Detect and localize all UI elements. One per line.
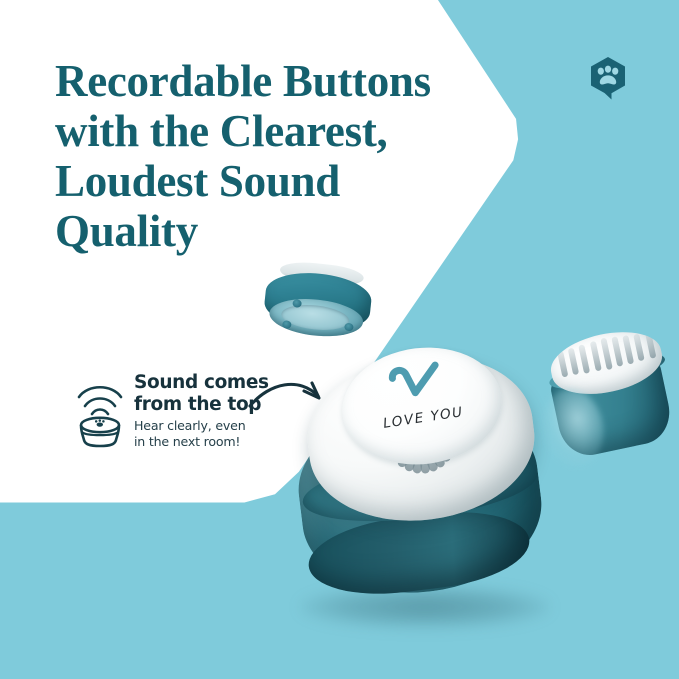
- grille-slot: [579, 344, 591, 373]
- product-scene: LOVE YOU: [0, 0, 679, 679]
- product-marketing-image: Recordable Buttons with the Clearest, Lo…: [0, 0, 679, 679]
- grille-slot: [634, 334, 646, 362]
- grille-slot: [568, 348, 580, 376]
- grille-slot: [645, 333, 656, 359]
- grille-slot: [589, 341, 601, 372]
- recordable-button-tilted: [531, 316, 679, 473]
- recordable-button-main: LOVE YOU: [288, 330, 556, 600]
- grille-slot: [611, 336, 623, 367]
- heart-icon: [383, 359, 450, 412]
- grille-slot: [622, 335, 634, 364]
- grille-slot: [600, 338, 613, 371]
- grille-slot: [557, 351, 568, 377]
